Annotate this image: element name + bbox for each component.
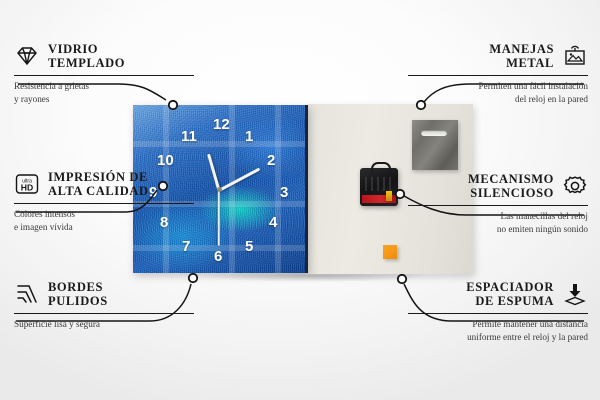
- mechanism-yellow-chip: [386, 191, 392, 201]
- feature-divider: [14, 75, 194, 76]
- feature-heading: MANEJASMETAL: [408, 42, 588, 71]
- feature-mecanismo-silencioso[interactable]: MECANISMOSILENCIOSO Las manecillas del r…: [408, 172, 588, 235]
- feature-description: Resistencia a grietasy rayones: [14, 80, 194, 105]
- clock-numeral-12: 12: [213, 117, 230, 132]
- clock-numeral-6: 6: [214, 249, 222, 264]
- feature-espaciador-espuma[interactable]: ESPACIADORDE ESPUMA Permite mantener una…: [408, 280, 588, 343]
- clock-numeral-3: 3: [280, 185, 288, 200]
- feature-description: Colores intensose imagen vívida: [14, 208, 194, 233]
- clock-center-cap: [217, 187, 222, 192]
- feature-heading: ultra HD IMPRESIÓN DEALTA CALIDAD: [14, 170, 194, 199]
- feature-impresion-alta-calidad[interactable]: ultra HD IMPRESIÓN DEALTA CALIDAD Colore…: [14, 170, 194, 233]
- clock-numeral-7: 7: [182, 239, 190, 254]
- feature-divider: [14, 203, 194, 204]
- clock-numeral-1: 1: [245, 129, 253, 144]
- infographic-canvas: 12 1 2 3 4 5 6 7 8 9 10 11: [0, 0, 600, 400]
- feature-title: BORDESPULIDOS: [48, 280, 108, 309]
- feature-bordes-pulidos[interactable]: BORDESPULIDOS Superficie lisa y segura: [14, 280, 194, 331]
- clock-numeral-2: 2: [267, 153, 275, 168]
- wall-hanger-icon: [562, 44, 588, 68]
- clock-numeral-10: 10: [157, 153, 174, 168]
- foam-spacer-icon: [562, 282, 588, 306]
- feature-title: ESPACIADORDE ESPUMA: [466, 280, 554, 309]
- feature-manejas-metal[interactable]: MANEJASMETAL Permiten una fácil instalac…: [408, 42, 588, 105]
- feature-title: MECANISMOSILENCIOSO: [468, 172, 554, 201]
- polished-edges-icon: [14, 282, 40, 306]
- clock-numeral-5: 5: [245, 239, 253, 254]
- clock-numeral-4: 4: [269, 215, 277, 230]
- feature-heading: VIDRIOTEMPLADO: [14, 42, 194, 71]
- mechanism-detail: [365, 177, 391, 191]
- feature-heading: MECANISMOSILENCIOSO: [408, 172, 588, 201]
- feature-description: Las manecillas del relojno emiten ningún…: [408, 210, 588, 235]
- feature-divider: [408, 75, 588, 76]
- feature-description: Permite mantener una distanciauniforme e…: [408, 318, 588, 343]
- clock-second-hand: [218, 190, 220, 246]
- feature-divider: [408, 313, 588, 314]
- grid-line: [133, 141, 305, 147]
- feature-heading: ESPACIADORDE ESPUMA: [408, 280, 588, 309]
- diamond-icon: [14, 44, 40, 68]
- clock-mechanism-box: [360, 168, 398, 206]
- feature-title: IMPRESIÓN DEALTA CALIDAD: [48, 170, 149, 199]
- mechanism-red-label: [362, 195, 396, 203]
- svg-text:HD: HD: [21, 183, 33, 193]
- mechanism-hanging-loop: [371, 162, 391, 173]
- feature-title: VIDRIOTEMPLADO: [48, 42, 125, 71]
- feature-divider: [14, 313, 194, 314]
- feature-heading: BORDESPULIDOS: [14, 280, 194, 309]
- feature-vidrio-templado[interactable]: VIDRIOTEMPLADO Resistencia a grietasy ra…: [14, 42, 194, 105]
- foam-spacer-square: [383, 245, 397, 259]
- feature-title: MANEJASMETAL: [489, 42, 554, 71]
- feature-description: Permiten una fácil instalacióndel reloj …: [408, 80, 588, 105]
- feature-divider: [408, 205, 588, 206]
- metal-hanger-plate: [412, 120, 458, 170]
- hanger-keyhole-slot: [421, 130, 447, 136]
- ultra-hd-icon: ultra HD: [14, 172, 40, 196]
- clock-numeral-11: 11: [181, 129, 197, 144]
- feature-description: Superficie lisa y segura: [14, 318, 194, 330]
- gear-icon: [562, 174, 588, 198]
